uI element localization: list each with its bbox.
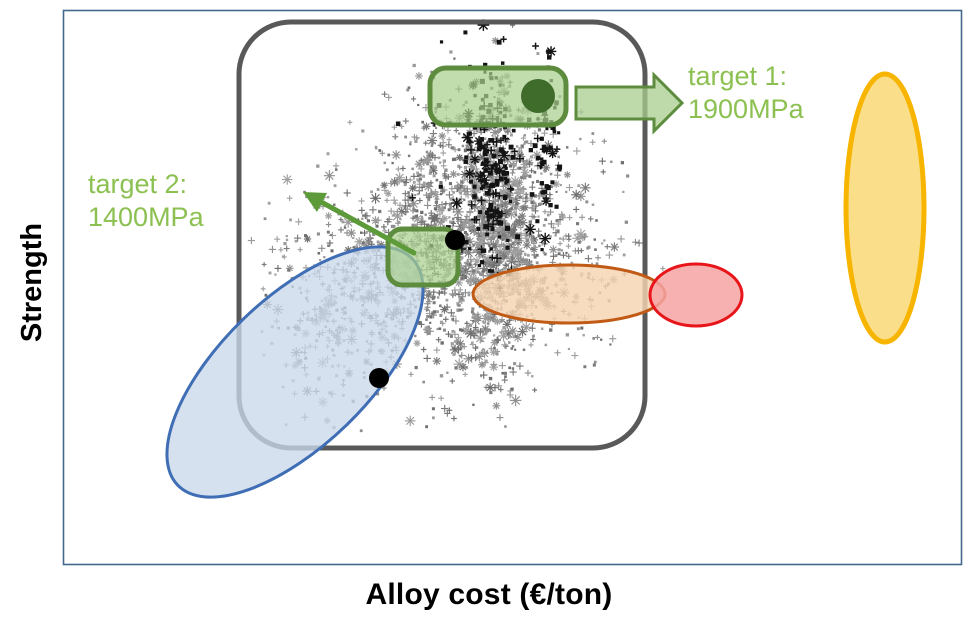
baseline-point-marker <box>369 368 389 388</box>
target2-callout-label: target 2: 1400MPa <box>88 168 204 234</box>
y-axis-label: Strength <box>17 223 50 342</box>
orange-cluster-ellipse <box>473 265 665 323</box>
yellow-cluster-ellipse <box>846 74 924 342</box>
x-axis-label: Alloy cost (€/ton) <box>0 578 978 612</box>
red-cluster-ellipse <box>650 264 742 326</box>
plot-canvas <box>0 0 978 639</box>
y-axis-label-wrapper: Strength <box>8 0 58 565</box>
target2-point-marker <box>445 230 465 250</box>
scatter-figure: target 1: 1900MPa target 2: 1400MPa Allo… <box>0 0 978 639</box>
target1-point-marker <box>521 79 555 113</box>
target1-callout-label: target 1: 1900MPa <box>688 60 804 126</box>
